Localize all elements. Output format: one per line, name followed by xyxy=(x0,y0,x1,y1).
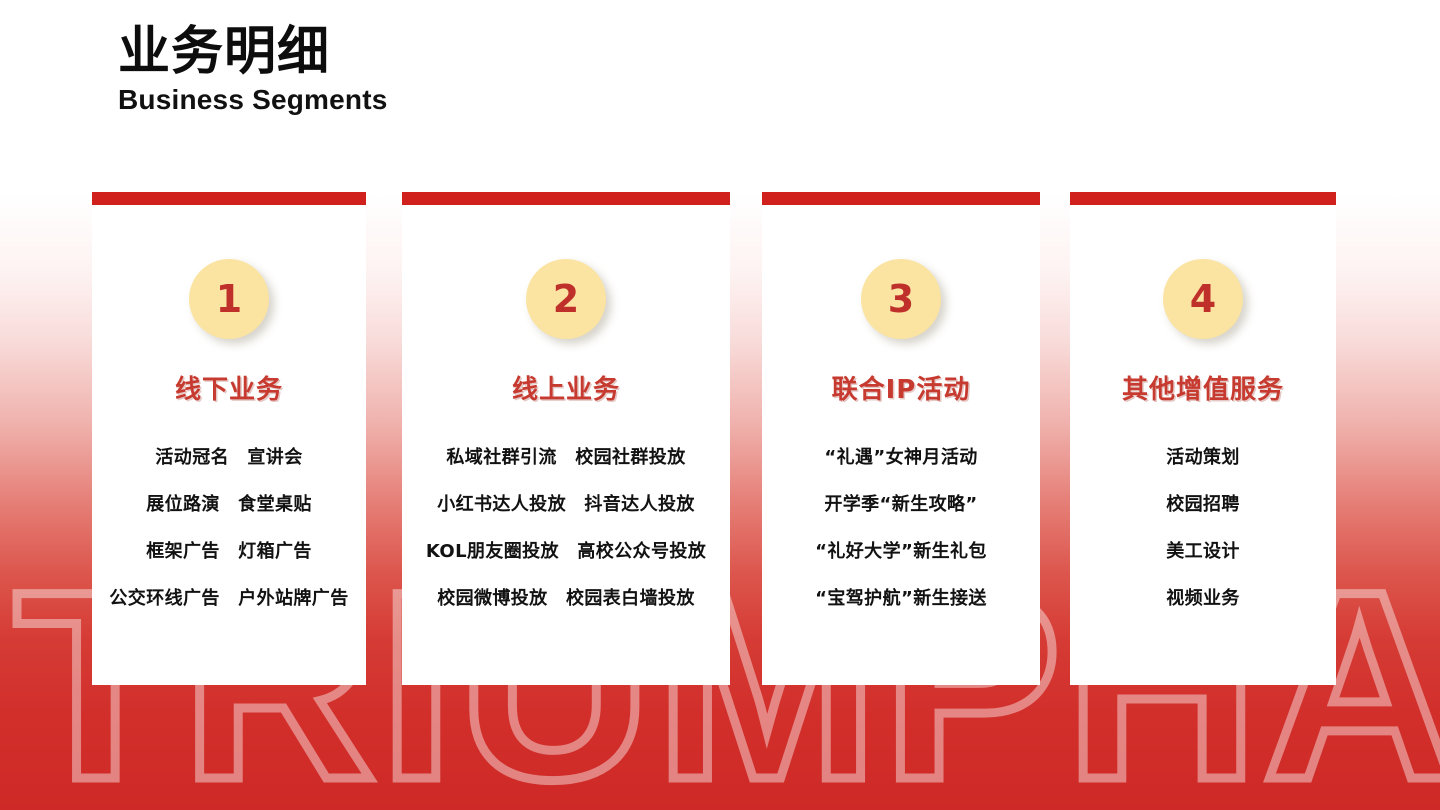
card-item-list: “礼遇”女神月活动 开学季“新生攻略” “礼好大学”新生礼包 “宝驾护航”新生接… xyxy=(762,443,1040,610)
cards-row: 1 线下业务 活动冠名 宣讲会 展位路演 食堂桌贴 框架广告 灯箱广告 公交环线… xyxy=(0,0,1440,810)
page-title-cn: 业务明细 xyxy=(118,24,388,80)
card-list-item: 框架广告 灯箱广告 xyxy=(146,537,312,563)
card-list-item: 小红书达人投放 抖音达人投放 xyxy=(437,490,695,516)
card-list-item: 公交环线广告 户外站牌广告 xyxy=(109,584,348,610)
card-list-item: 私域社群引流 校园社群投放 xyxy=(446,443,685,469)
card-body: 4 其他增值服务 活动策划 校园招聘 美工设计 视频业务 xyxy=(1070,200,1336,685)
card-body: 3 联合IP活动 “礼遇”女神月活动 开学季“新生攻略” “礼好大学”新生礼包 … xyxy=(762,200,1040,685)
card-top-bar xyxy=(402,192,730,205)
card-list-item: KOL朋友圈投放 高校公众号投放 xyxy=(426,537,706,563)
card-list-item: “宝驾护航”新生接送 xyxy=(815,584,987,610)
card-body: 2 线上业务 私域社群引流 校园社群投放 小红书达人投放 抖音达人投放 KOL朋… xyxy=(402,200,730,685)
card-top-bar xyxy=(92,192,366,205)
card-top-bar xyxy=(1070,192,1336,205)
card-list-item: 校园微博投放 校园表白墙投放 xyxy=(437,584,695,610)
card-title: 线下业务 xyxy=(175,369,283,406)
page-header: 业务明细 Business Segments xyxy=(118,24,388,116)
card-item-list: 活动冠名 宣讲会 展位路演 食堂桌贴 框架广告 灯箱广告 公交环线广告 户外站牌… xyxy=(92,443,366,610)
card-title: 联合IP活动 xyxy=(832,369,971,406)
card-item-list: 活动策划 校园招聘 美工设计 视频业务 xyxy=(1070,443,1336,610)
card-title: 其他增值服务 xyxy=(1122,369,1284,406)
card-number-badge: 2 xyxy=(526,259,606,339)
page-title-en: Business Segments xyxy=(118,84,388,116)
card-list-item: 校园招聘 xyxy=(1166,490,1240,516)
card-item-list: 私域社群引流 校园社群投放 小红书达人投放 抖音达人投放 KOL朋友圈投放 高校… xyxy=(402,443,730,610)
card-body: 1 线下业务 活动冠名 宣讲会 展位路演 食堂桌贴 框架广告 灯箱广告 公交环线… xyxy=(92,200,366,685)
card-list-item: “礼好大学”新生礼包 xyxy=(815,537,987,563)
slide-canvas: TRIUMPHAN 业务明细 Business Segments 1 线下业务 … xyxy=(0,0,1440,810)
card-number-badge: 1 xyxy=(189,259,269,339)
card-list-item: 美工设计 xyxy=(1166,537,1240,563)
card-list-item: 视频业务 xyxy=(1166,584,1240,610)
card-number-badge: 4 xyxy=(1163,259,1243,339)
card-title: 线上业务 xyxy=(512,369,620,406)
card-number-badge: 3 xyxy=(861,259,941,339)
card-top-bar xyxy=(762,192,1040,205)
card-list-item: “礼遇”女神月活动 xyxy=(824,443,977,469)
card-list-item: 活动冠名 宣讲会 xyxy=(155,443,302,469)
card-list-item: 活动策划 xyxy=(1166,443,1240,469)
card-list-item: 开学季“新生攻略” xyxy=(824,490,977,516)
card-list-item: 展位路演 食堂桌贴 xyxy=(146,490,312,516)
